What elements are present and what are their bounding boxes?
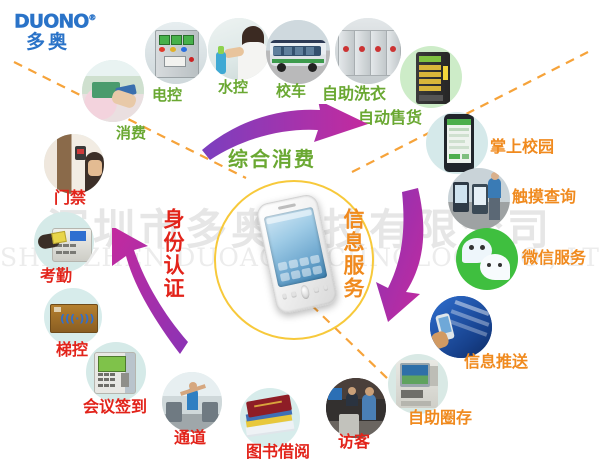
node-tushu-image bbox=[240, 388, 300, 448]
flow-consumption-label: 综合消费 bbox=[228, 143, 316, 172]
node-fangke-label: 访客 bbox=[338, 434, 370, 450]
node-zidongshouhuo-image bbox=[400, 46, 462, 108]
brand-logo: DUONO® 多奥 bbox=[14, 8, 109, 56]
logo-wordmark: DUONO® bbox=[14, 8, 109, 31]
infographic-canvas: 深圳市多奥科技有限公司 SHENZHEN DUOAO TECHNOLOGY CO… bbox=[0, 0, 600, 472]
node-xiaofei-label: 消费 bbox=[116, 126, 146, 141]
flow-information-label: 信息服务 bbox=[338, 208, 368, 300]
node-fangke-image bbox=[326, 378, 386, 438]
node-huiyiqiandao-label: 会议签到 bbox=[83, 399, 147, 415]
node-diankong-image bbox=[145, 22, 207, 84]
logo-wordmark-text: DUONO bbox=[14, 10, 88, 32]
node-zhangshang-label: 掌上校园 bbox=[490, 139, 554, 155]
node-zidongshouhuo-label: 自动售货 bbox=[358, 110, 422, 126]
node-chumo-label: 触摸查询 bbox=[512, 189, 576, 205]
node-xiaoche-label: 校车 bbox=[276, 84, 306, 99]
node-chumo-image bbox=[448, 168, 510, 230]
node-menjin-image bbox=[44, 134, 104, 194]
node-tushu-label: 图书借阅 bbox=[246, 444, 310, 460]
node-shuikong-label: 水控 bbox=[218, 80, 248, 95]
node-xiaoche-image bbox=[266, 20, 330, 84]
node-diankong-label: 电控 bbox=[152, 88, 182, 103]
node-weixin-image bbox=[456, 228, 518, 290]
node-shuikong-image bbox=[208, 18, 270, 80]
node-quancun-label: 自助圈存 bbox=[408, 410, 472, 426]
node-tongdao-label: 通道 bbox=[174, 430, 206, 446]
node-menjin-label: 门禁 bbox=[54, 190, 86, 206]
logo-chinese: 多奥 bbox=[26, 31, 109, 53]
flow-identity-label: 身份认证 bbox=[158, 208, 188, 300]
node-kaoqin-label: 考勤 bbox=[40, 268, 72, 284]
node-kaoqin-image bbox=[34, 212, 94, 272]
registered-mark-icon: ® bbox=[88, 13, 95, 22]
node-huiyiqiandao-image bbox=[86, 342, 146, 402]
node-tongdao-image bbox=[162, 372, 222, 432]
node-zhangshang-image bbox=[426, 112, 488, 174]
node-weixin-label: 微信服务 bbox=[522, 250, 586, 266]
node-tikong-image: (((·))) bbox=[44, 288, 102, 346]
node-zizhuxiyi-label: 自助洗衣 bbox=[322, 86, 386, 102]
node-tuisong-label: 信息推送 bbox=[464, 354, 528, 370]
node-xiaofei-image bbox=[82, 60, 144, 122]
node-tuisong-image bbox=[430, 296, 492, 358]
node-tikong-label: 梯控 bbox=[56, 342, 88, 358]
node-zizhuxiyi-image bbox=[335, 18, 401, 84]
node-quancun-image bbox=[388, 354, 448, 414]
